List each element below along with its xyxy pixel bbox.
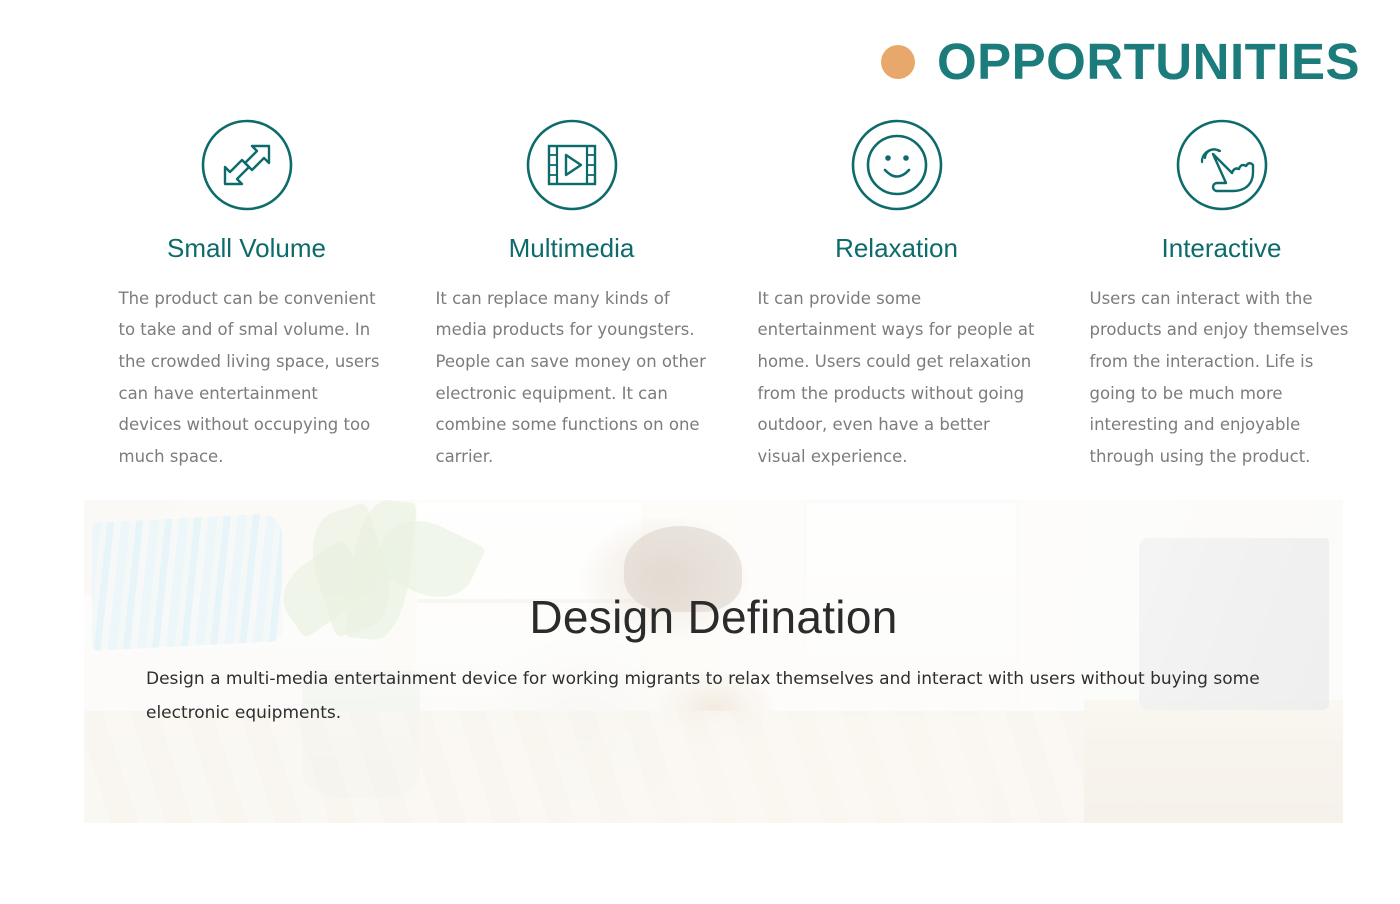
expand-arrows-icon (200, 118, 294, 212)
feature-card-interactive: Interactive Users can interact with the … (1059, 118, 1384, 473)
feature-body: It can replace many kinds of media produ… (436, 283, 708, 473)
banner-title: Design Defination (84, 590, 1343, 644)
feature-title: Relaxation (835, 234, 958, 263)
feature-body: Users can interact with the products and… (1090, 283, 1362, 473)
feature-card-relaxation: Relaxation It can provide some entertain… (734, 118, 1059, 473)
feature-title: Interactive (1162, 234, 1282, 263)
feature-title: Small Volume (167, 234, 326, 263)
feature-title: Multimedia (509, 234, 635, 263)
feature-card-multimedia: Multimedia It can replace many kinds of … (409, 118, 734, 473)
film-play-icon (525, 118, 619, 212)
banner-subtitle: Design a multi-media entertainment devic… (146, 662, 1296, 730)
page-title: OPPORTUNITIES (937, 36, 1360, 87)
tap-hand-icon (1175, 118, 1269, 212)
slide-header: OPPORTUNITIES (881, 36, 1360, 87)
banner-content: Design Defination Design a multi-media e… (84, 500, 1343, 823)
feature-body: The product can be convenient to take an… (119, 283, 381, 473)
feature-body: It can provide some entertainment ways f… (758, 283, 1040, 473)
smiley-face-icon (850, 118, 944, 212)
feature-card-small-volume: Small Volume The product can be convenie… (84, 118, 409, 473)
feature-columns: Small Volume The product can be convenie… (84, 118, 1344, 473)
orange-dot-icon (881, 45, 915, 79)
design-definition-banner: Design Defination Design a multi-media e… (84, 500, 1343, 823)
